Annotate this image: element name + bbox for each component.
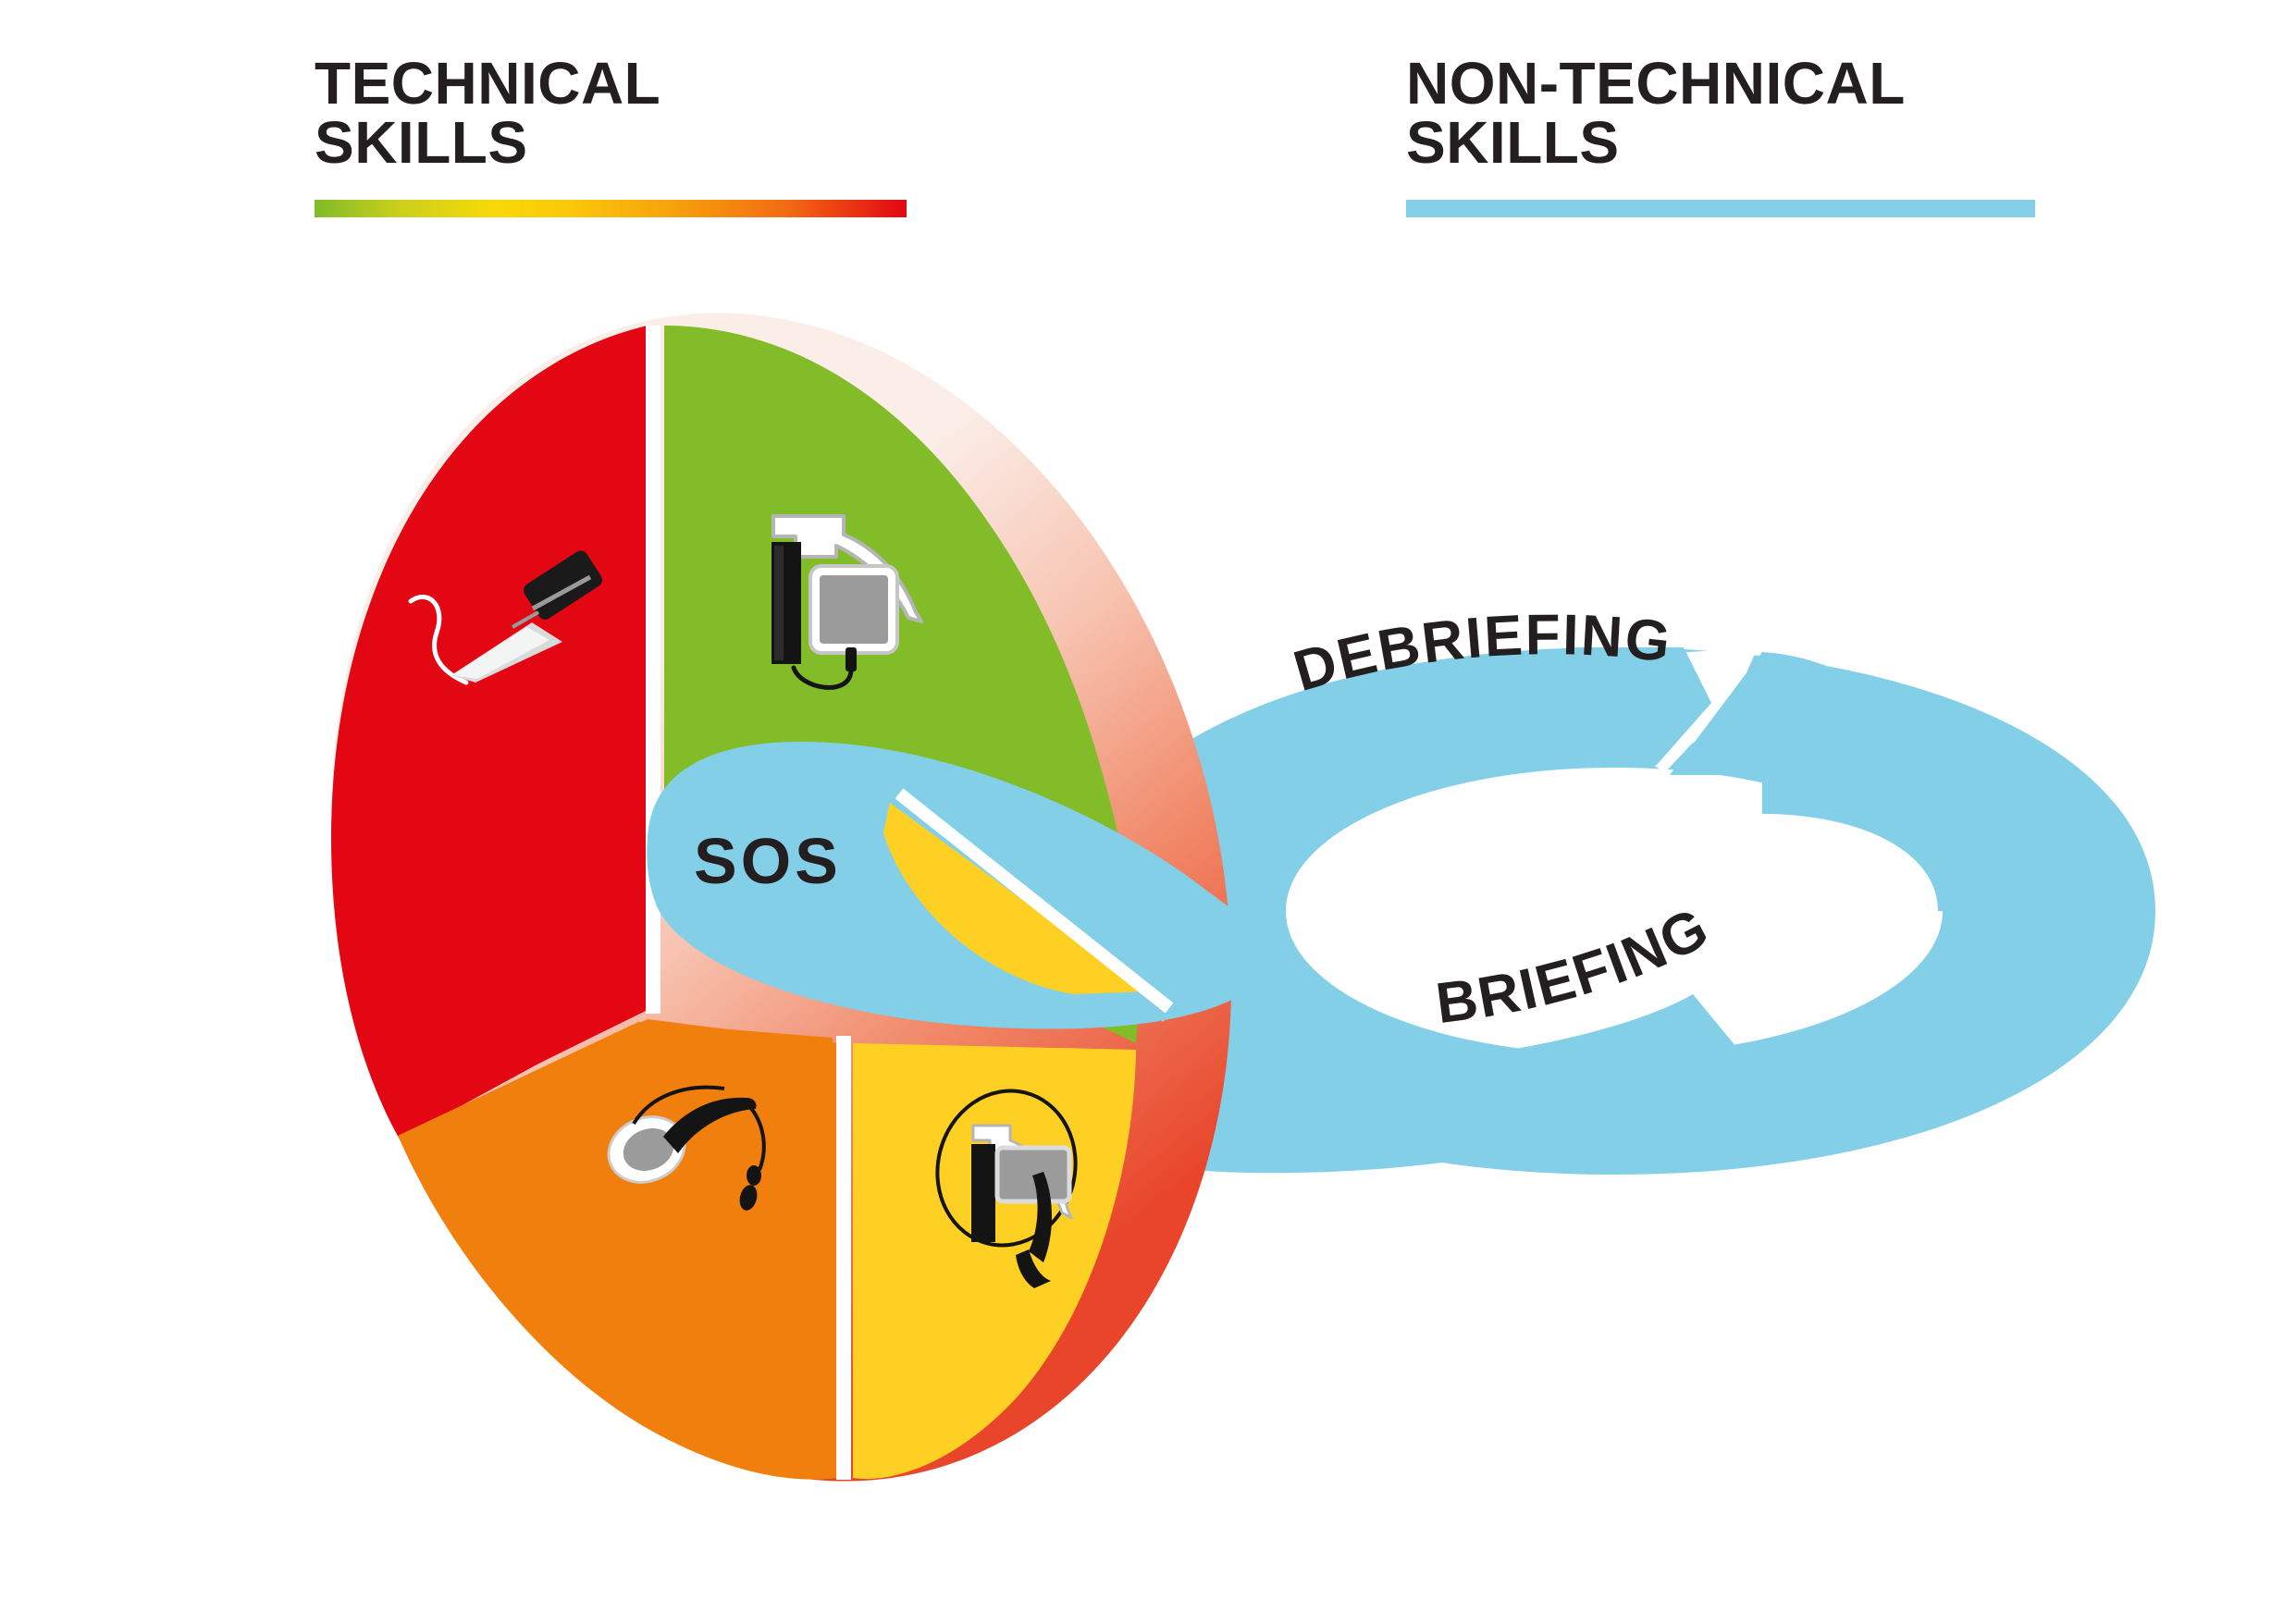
diagram-canvas: TECHNICAL SKILLS NON-TECHNICAL SKILLS [0, 0, 2296, 1612]
wheel-segment-surgical-airway[interactable] [331, 326, 654, 1139]
sos-label: SOS [694, 825, 842, 897]
skills-diagram-svg: SOS DEBRIEFING BRIEFING [0, 0, 2296, 1612]
